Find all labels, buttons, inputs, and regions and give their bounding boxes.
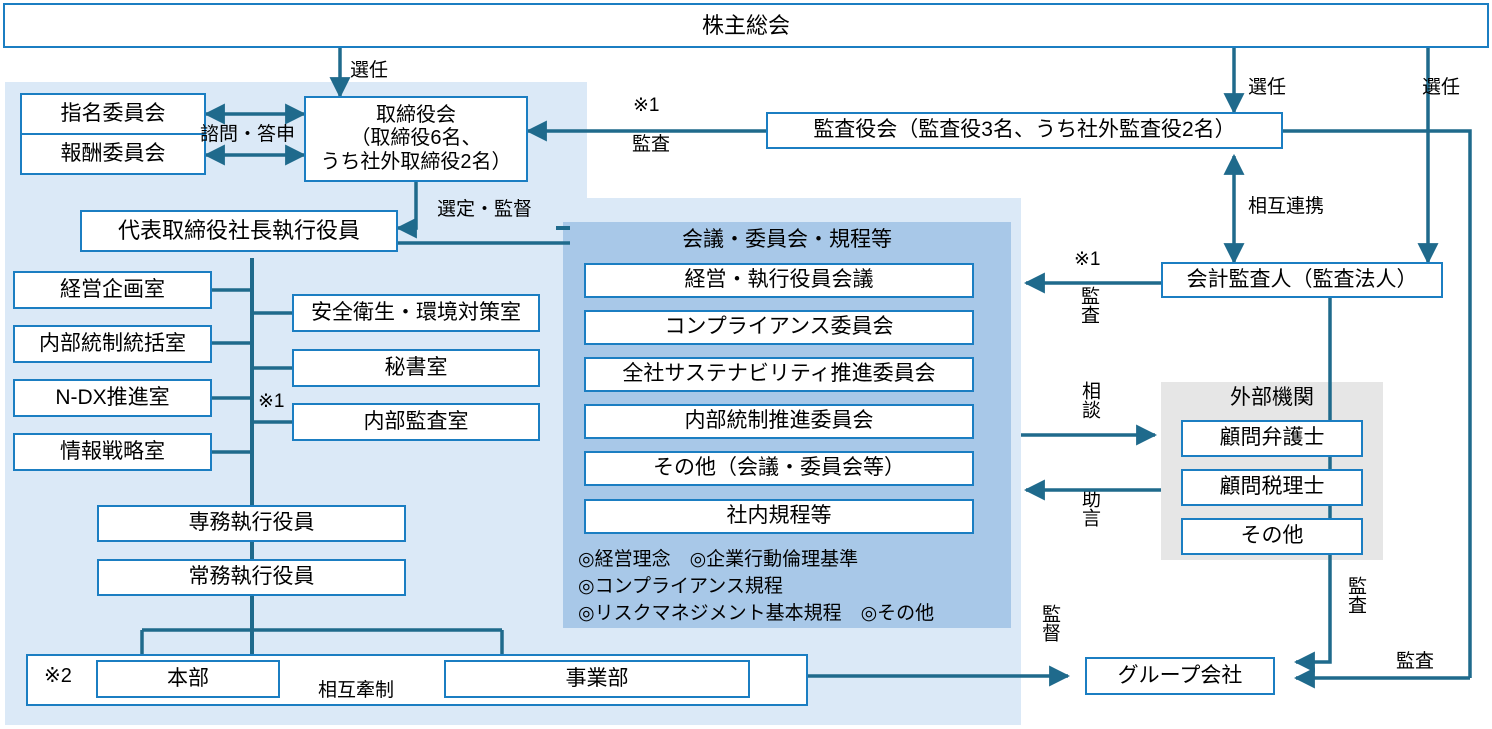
governance-diagram: 株主総会 指名委員会 報酬委員会 取締役会 （取締役6名、 うち社外取締役2名）… [0, 0, 1492, 729]
external-connectors [0, 0, 1492, 729]
